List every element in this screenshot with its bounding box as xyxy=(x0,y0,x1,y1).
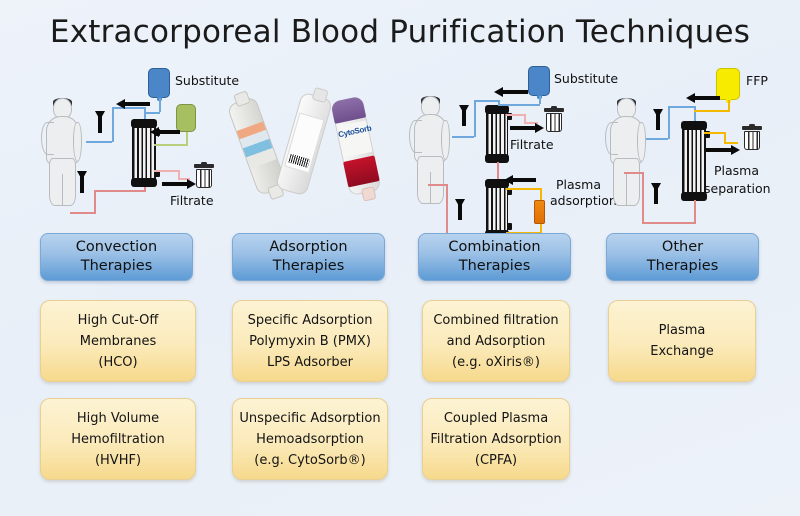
category-label-line1: Other xyxy=(662,238,703,257)
patient-leg-split xyxy=(626,174,627,206)
therapy-line: (CPFA) xyxy=(475,450,517,471)
tube-plasma-waste-a xyxy=(704,132,724,134)
label-plasma-adsorption-line1: Plasma xyxy=(556,178,601,192)
cartridge-lps-adsorber xyxy=(275,92,333,197)
label-ffp: FFP xyxy=(746,74,768,88)
category-label-line2: Therapies xyxy=(273,257,345,276)
plasma-separator xyxy=(682,122,706,200)
adsorption-cartridges-photo: CytoSorb xyxy=(236,84,402,208)
category-box-other[interactable]: Other Therapies xyxy=(606,233,759,281)
tube-substitute-a xyxy=(159,98,161,112)
patient-arm-right xyxy=(441,120,450,160)
therapy-line: High Volume xyxy=(77,408,159,429)
category-box-combination[interactable]: Combination Therapies xyxy=(418,233,571,281)
waste-bin-icon xyxy=(742,126,762,150)
tube-green-a xyxy=(186,132,188,144)
category-label-line2: Therapies xyxy=(459,257,531,276)
plasma-adsorber-cartridge xyxy=(534,200,545,224)
label-plasma-separation-line1: Plasma xyxy=(714,164,759,178)
category-label-line1: Combination xyxy=(448,238,540,257)
category-label-line1: Adsorption xyxy=(269,238,347,257)
tube-substitute-a xyxy=(539,96,541,104)
tube-blood-in-c xyxy=(474,100,498,102)
label-substitute: Substitute xyxy=(175,74,239,88)
tube-filtrate-b xyxy=(178,170,180,178)
therapy-box-hco[interactable]: High Cut-Off Membranes (HCO) xyxy=(40,300,196,382)
waste-bin-icon xyxy=(194,164,214,188)
category-label-line1: Convection xyxy=(76,238,157,257)
combination-diagram: Substitute Filtrate Plasma adsorption xyxy=(404,66,600,221)
tube-blood-out-d xyxy=(428,184,448,186)
patient-leg-split xyxy=(62,174,63,206)
patient-arm-right xyxy=(637,122,646,162)
tube-blood-in-b xyxy=(112,107,114,142)
therapy-line: Hemofiltration xyxy=(71,429,165,450)
tube-blood-out-b xyxy=(642,222,696,224)
other-diagram: FFP Plasma separation xyxy=(598,66,794,221)
tube-blood-in-a xyxy=(646,138,668,140)
therapy-line: Hemoadsorption xyxy=(256,429,364,450)
therapy-line: (HCO) xyxy=(98,352,137,373)
therapy-box-oxiris[interactable]: Combined filtration and Adsorption (e.g.… xyxy=(422,300,570,382)
therapy-line: Polymyxin B (PMX) xyxy=(249,331,371,352)
green-bag xyxy=(176,104,196,132)
therapy-line: Specific Adsorption xyxy=(248,310,373,331)
tube-blood-out-c xyxy=(642,172,644,224)
therapy-box-hvhf[interactable]: High Volume Hemofiltration (HVHF) xyxy=(40,398,196,480)
tube-filtrate-a xyxy=(506,114,524,116)
therapy-line: High Cut-Off xyxy=(78,310,159,331)
category-box-adsorption[interactable]: Adsorption Therapies xyxy=(232,233,385,281)
tube-blood-out-c xyxy=(94,190,96,212)
therapy-line: Combined filtration xyxy=(433,310,558,331)
tube-filtrate-b xyxy=(524,114,526,122)
plasma-adsorber-filter xyxy=(486,180,508,238)
therapy-line: Coupled Plasma xyxy=(444,408,548,429)
tube-blood-out-b xyxy=(94,190,146,192)
patient-arm-left xyxy=(605,122,618,155)
tube-green-b xyxy=(154,144,188,146)
slide-canvas: Extracorporeal Blood Purification Techni… xyxy=(0,0,800,516)
tube-blood-in-c xyxy=(668,106,694,108)
label-plasma-separation-line2: separation xyxy=(704,182,771,196)
therapy-line: and Adsorption xyxy=(447,331,546,352)
patient-arm-right xyxy=(73,122,82,162)
therapy-line: LPS Adsorber xyxy=(267,352,353,373)
tube-blood-in-a xyxy=(452,136,474,138)
hemofilter-upper xyxy=(486,106,508,162)
tube-blood-in-a xyxy=(86,141,112,143)
therapy-line: Unspecific Adsorption xyxy=(239,408,380,429)
therapy-line: Filtration Adsorption xyxy=(430,429,561,450)
substitute-bag xyxy=(148,68,170,98)
page-title: Extracorporeal Blood Purification Techni… xyxy=(0,14,800,50)
substitute-bag xyxy=(528,66,550,96)
tube-filtrate-a xyxy=(154,170,178,172)
tube-blood-out-d xyxy=(70,212,96,214)
therapy-line: (e.g. oXiris®) xyxy=(452,352,540,373)
label-filtrate: Filtrate xyxy=(170,194,214,208)
tube-blood-in-d xyxy=(694,106,696,122)
tube-plasma-waste-b xyxy=(724,132,726,142)
therapy-box-specific-adsorption[interactable]: Specific Adsorption Polymyxin B (PMX) LP… xyxy=(232,300,388,382)
tube-plasma-a xyxy=(506,188,540,190)
patient-arm-left xyxy=(41,122,54,155)
category-label-line2: Therapies xyxy=(647,257,719,276)
category-label-line2: Therapies xyxy=(81,257,153,276)
label-filtrate: Filtrate xyxy=(510,138,554,152)
tube-blood-in-b xyxy=(474,100,476,137)
therapy-line: (e.g. CytoSorb®) xyxy=(254,450,365,471)
cartridge-cytosorb: CytoSorb xyxy=(330,96,381,197)
tube-blood-out-d xyxy=(624,172,644,174)
therapy-box-cpfa[interactable]: Coupled Plasma Filtration Adsorption (CP… xyxy=(422,398,570,480)
waste-bin-icon xyxy=(544,108,564,132)
tube-ffp-a xyxy=(728,100,730,110)
convection-diagram: Substitute Filtrate xyxy=(34,66,224,221)
tube-blood-out-a xyxy=(694,200,696,222)
therapy-box-hemoadsorption[interactable]: Unspecific Adsorption Hemoadsorption (e.… xyxy=(232,398,388,480)
therapy-line: Membranes xyxy=(80,331,156,352)
tube-substitute-b xyxy=(498,104,540,106)
category-box-convection[interactable]: Convection Therapies xyxy=(40,233,193,281)
therapy-line: Exchange xyxy=(650,341,714,362)
patient-leg-split xyxy=(430,172,431,204)
tube-ffp-b xyxy=(694,110,730,112)
tube-substitute-b xyxy=(144,112,160,114)
therapy-line: Plasma xyxy=(659,320,706,341)
tube-blood-in-b xyxy=(668,106,670,139)
therapy-line: (HVHF) xyxy=(95,450,141,471)
patient-arm-left xyxy=(409,120,422,153)
therapy-box-plasma-exchange[interactable]: Plasma Exchange xyxy=(608,300,756,382)
